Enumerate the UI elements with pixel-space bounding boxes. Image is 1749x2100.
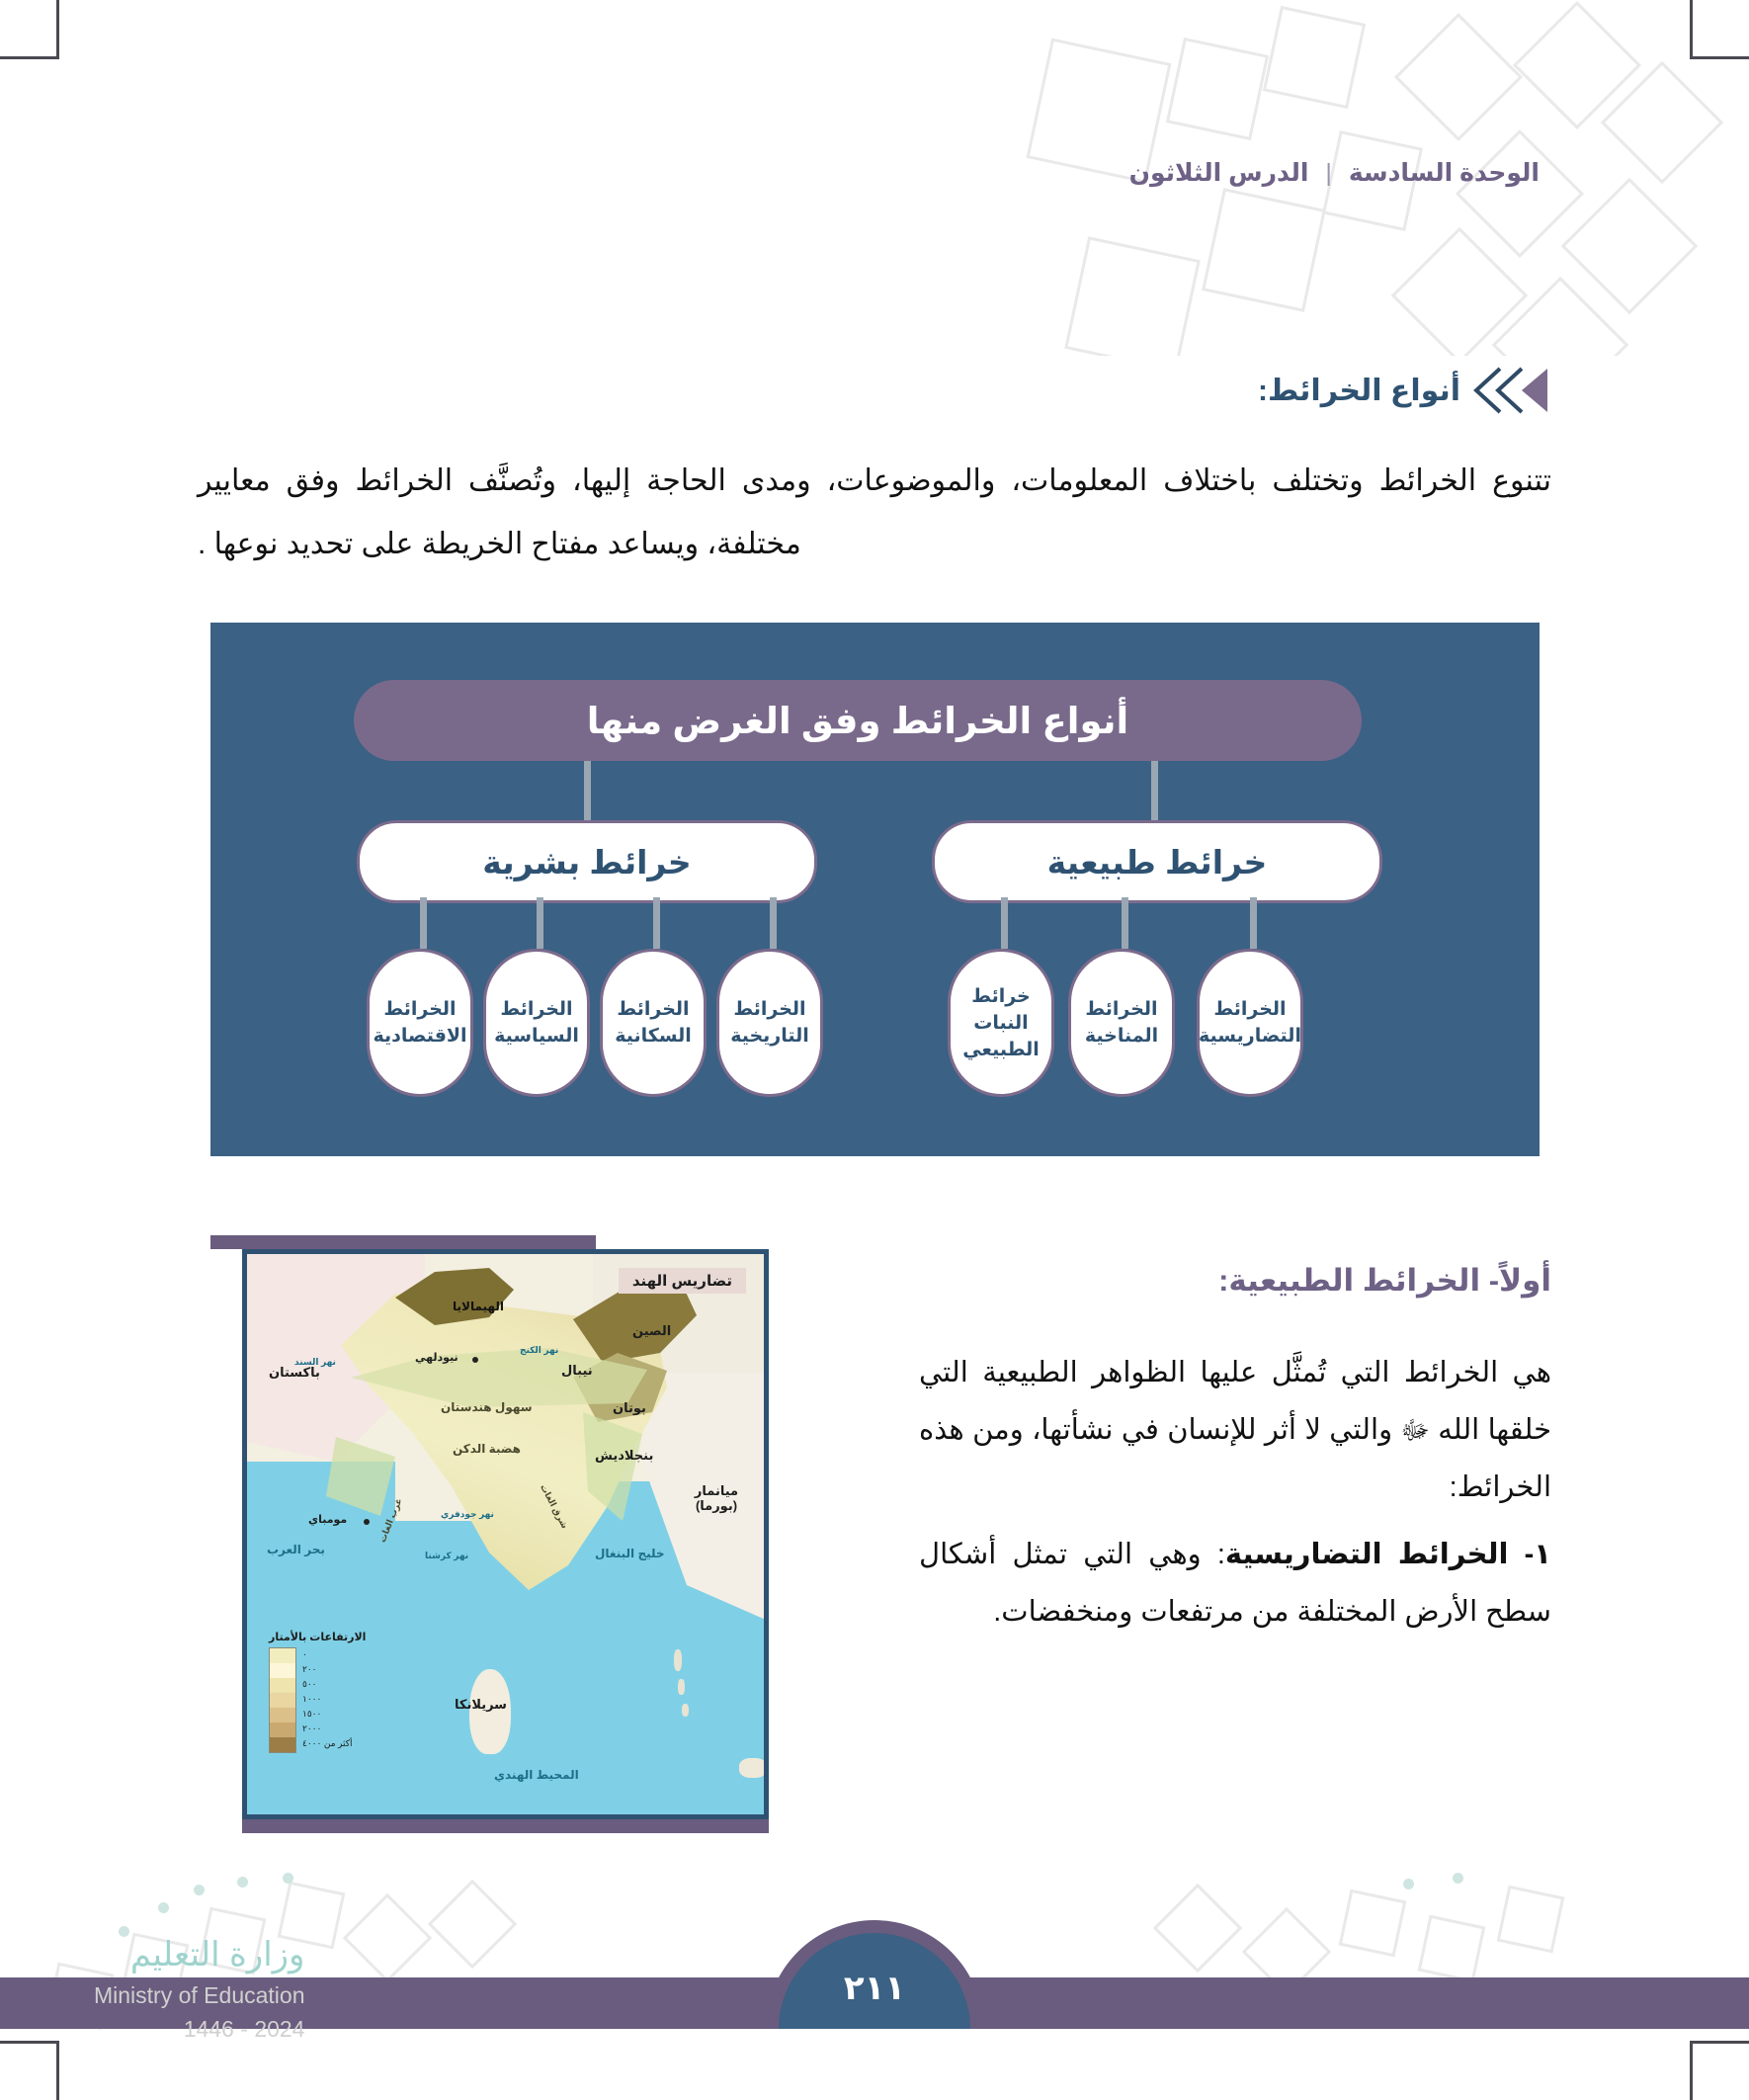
- map-label-bhutan: بوتان: [613, 1400, 646, 1416]
- double-chevron-icon: [1470, 366, 1551, 415]
- subsection-body: هي الخرائط التي تُمثَّل عليها الظواهر ال…: [919, 1344, 1551, 1650]
- watermark-arabic: وزارة التعليم: [94, 1931, 304, 1979]
- diagram-leaf-human-1: الخرائط التاريخية: [716, 949, 823, 1097]
- legend-value-5: ٢٠٠٠: [302, 1722, 352, 1736]
- diagram-leaf-human-2: الخرائط السكانية: [600, 949, 707, 1097]
- connector-natural-2: [1122, 897, 1128, 949]
- andaman-island-2: [678, 1679, 685, 1695]
- legend-swatch-5: [270, 1722, 295, 1737]
- crop-mark-top-left-vertical: [56, 0, 59, 59]
- legend-swatch-1: [270, 1663, 295, 1678]
- legend-value-6: أكثر من ٤٠٠٠: [302, 1736, 352, 1751]
- legend-swatch-0: [270, 1648, 295, 1663]
- watermark-english: Ministry of Education: [94, 1979, 304, 2012]
- running-head-unit: الوحدة السادسة: [1349, 159, 1540, 187]
- list-item-1-number: ١-: [1525, 1539, 1551, 1570]
- diagram-branch-human: خرائط بشرية: [357, 820, 817, 903]
- subsection-heading: أولاً- الخرائط الطبيعية:: [1218, 1263, 1551, 1299]
- map-label-krishna-river: نهر كرشنا: [425, 1551, 468, 1561]
- legend-swatch-6: [270, 1737, 295, 1752]
- page-number-badge: ٢١١: [766, 1920, 983, 2029]
- map-label-new-delhi: نيودلهي: [415, 1351, 458, 1364]
- map-label-mumbai: مومباي: [308, 1513, 347, 1526]
- legend-value-4: ١٥٠٠: [302, 1707, 352, 1722]
- map-label-china: الصين: [632, 1323, 671, 1339]
- page-number: ٢١١: [844, 1955, 905, 2008]
- map-label-srilanka: سريلانكا: [455, 1697, 507, 1713]
- map-label-bay-of-bengal: خليج البنغال: [595, 1547, 665, 1560]
- legend-value-0: ٠: [302, 1647, 352, 1662]
- city-dot-new-delhi: [472, 1357, 478, 1363]
- diagram-branch-natural: خرائط طبيعية: [932, 820, 1382, 903]
- map-label-arabian-sea: بحر العرب: [267, 1543, 325, 1556]
- eastern-coast-sliver: [739, 1758, 767, 1778]
- connector-root-to-natural: [1151, 761, 1158, 820]
- map-image-frame: تضاريس الهند الصين باكستان نيبال بوتان ب…: [242, 1249, 769, 1819]
- legend-value-3: ١٠٠٠: [302, 1692, 352, 1707]
- crop-mark-top-right-vertical: [1690, 0, 1693, 59]
- section-heading: أنواع الخرائط:: [1258, 366, 1551, 415]
- legend-swatch-4: [270, 1708, 295, 1722]
- ministry-watermark: وزارة التعليم Ministry of Education 2024…: [94, 1931, 304, 2046]
- textbook-page: الوحدة السادسة | الدرس الثلاثون أنواع ال…: [0, 0, 1749, 2100]
- diagram-leaf-natural-3: خرائط النبات الطبيعي: [948, 949, 1054, 1097]
- legend-swatch-3: [270, 1693, 295, 1708]
- map-title-banner: تضاريس الهند: [619, 1268, 746, 1294]
- list-item-1-term: الخرائط التضاريسية: [1225, 1539, 1509, 1570]
- map-label-nepal: نيبال: [561, 1363, 593, 1379]
- connector-human-2: [653, 897, 660, 949]
- diagram-leaf-natural-1: الخرائط التضاريسية: [1197, 949, 1303, 1097]
- legend-value-2: ٥٠٠: [302, 1677, 352, 1692]
- crop-mark-bottom-right-vertical: [1690, 2041, 1693, 2100]
- andaman-island-1: [674, 1649, 682, 1671]
- connector-natural-3: [1001, 897, 1008, 949]
- connector-human-1: [770, 897, 777, 949]
- crop-mark-top-left-horizontal: [0, 56, 59, 59]
- crop-mark-bottom-right-horizontal: [1690, 2041, 1749, 2044]
- map-label-deccan-plateau: هضبة الدكن: [453, 1442, 521, 1456]
- running-head: الوحدة السادسة | الدرس الثلاثون: [1129, 158, 1540, 188]
- figure-accent-top: [210, 1235, 596, 1249]
- map-label-himalaya: الهيمالايا: [453, 1300, 504, 1313]
- connector-natural-1: [1250, 897, 1257, 949]
- map-label-ganges-river: نهر الكنج: [520, 1345, 558, 1356]
- map-label-myanmar: ميانمار (بورما): [682, 1483, 751, 1513]
- crop-mark-top-right-horizontal: [1690, 56, 1749, 59]
- legend-swatch-2: [270, 1678, 295, 1693]
- map-label-indian-ocean: المحيط الهندي: [494, 1768, 579, 1782]
- lafz-aljalalah-glyph: ﷻ: [1400, 1415, 1429, 1445]
- running-head-separator: |: [1315, 159, 1342, 187]
- definition-paragraph: هي الخرائط التي تُمثَّل عليها الظواهر ال…: [919, 1344, 1551, 1516]
- figure-accent-bottom: [242, 1819, 769, 1833]
- map-label-indus-river: نهر السند: [294, 1357, 336, 1368]
- section-title: أنواع الخرائط:: [1258, 374, 1460, 408]
- map-label-hindustan-plains: سهول هندستان: [441, 1400, 533, 1414]
- andaman-island-3: [682, 1704, 689, 1717]
- running-head-lesson: الدرس الثلاثون: [1129, 159, 1309, 187]
- crop-mark-bottom-left-vertical: [56, 2041, 59, 2100]
- connector-human-4: [420, 897, 427, 949]
- legend-title: الارتفاعات بالأمتار: [269, 1631, 366, 1643]
- map-label-bangladesh: بنجلاديش: [595, 1448, 653, 1464]
- legend-values: ٠ ٢٠٠ ٥٠٠ ١٠٠٠ ١٥٠٠ ٢٠٠٠ أكثر من ٤٠٠٠: [302, 1647, 352, 1751]
- diagram-leaf-human-3: الخرائط السياسية: [483, 949, 590, 1097]
- intro-paragraph: تتنوع الخرائط وتختلف باختلاف المعلومات، …: [198, 450, 1551, 576]
- diagram-leaf-human-4: الخرائط الاقتصادية: [367, 949, 473, 1097]
- map-figure: تضاريس الهند الصين باكستان نيبال بوتان ب…: [210, 1235, 769, 1833]
- diagram-leaf-natural-2: الخرائط المناخية: [1068, 949, 1175, 1097]
- legend-value-1: ٢٠٠: [302, 1662, 352, 1677]
- crop-mark-bottom-left-horizontal: [0, 2041, 59, 2044]
- map-label-godavari-river: نهر جودفري: [441, 1509, 494, 1520]
- list-item-1: ١- الخرائط التضاريسية: وهي التي تمثل أشك…: [919, 1526, 1551, 1640]
- connector-human-3: [537, 897, 543, 949]
- city-dot-mumbai: [364, 1519, 370, 1525]
- diagram-root-node: أنواع الخرائط وفق الغرض منها: [354, 680, 1362, 761]
- connector-root-to-human: [584, 761, 591, 820]
- watermark-years: 2024 - 1446: [94, 2013, 304, 2046]
- map-legend: الارتفاعات بالأمتار ٠ ٢٠٠ ٥٠٠: [269, 1631, 366, 1753]
- legend-color-bar: [269, 1647, 296, 1753]
- map-types-diagram: أنواع الخرائط وفق الغرض منها خرائط طبيعي…: [210, 623, 1540, 1156]
